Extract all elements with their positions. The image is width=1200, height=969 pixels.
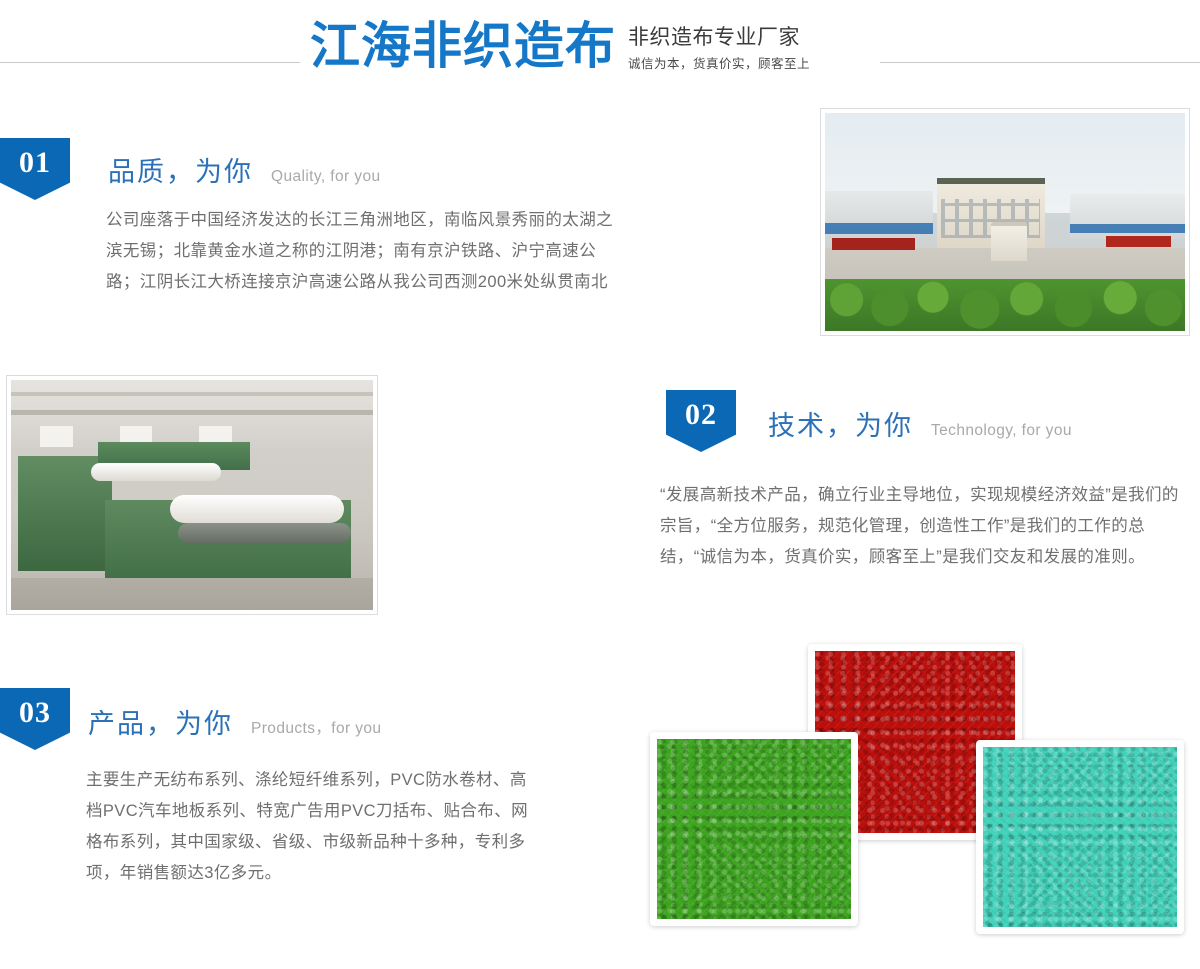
brand-taglines: 非织造布专业厂家 诚信为本，货真价实，顾客至上 xyxy=(628,18,810,74)
pvc-swatch-green-surface xyxy=(657,739,851,919)
fabric-roll-upper xyxy=(91,463,221,481)
company-logo-text: 江海非织造布 xyxy=(310,18,616,74)
section-heading-01: 品质，为你 Quality, for you xyxy=(108,150,381,189)
section-badge-03: 03 xyxy=(0,688,70,750)
header-divider-left xyxy=(0,62,300,63)
section-title-cn-02: 技术，为你 xyxy=(768,404,913,443)
campus-warehouse-right xyxy=(1070,194,1185,240)
pvc-swatch-turquoise xyxy=(976,740,1184,934)
page-header: 江海非织造布 非织造布专业厂家 诚信为本，货真价实，顾客至上 xyxy=(0,0,1200,100)
machine-floor xyxy=(11,578,373,610)
company-profile-page: 江海非织造布 非织造布专业厂家 诚信为本，货真价实，顾客至上 01 品质，为你 … xyxy=(0,0,1200,969)
machine-roof-beam-upper xyxy=(11,392,373,396)
section-body-02: “发展高新技术产品，确立行业主导地位，实现规模经济效益”是我们的宗旨，“全方位服… xyxy=(660,480,1188,573)
section-title-en-03: Products，for you xyxy=(251,716,381,738)
tagline-primary: 非织造布专业厂家 xyxy=(628,24,810,52)
section-badge-02: 02 xyxy=(666,390,736,452)
section-title-en-01: Quality, for you xyxy=(271,168,381,186)
brand-lockup: 江海非织造布 非织造布专业厂家 诚信为本，货真价实，顾客至上 xyxy=(310,18,810,74)
campus-tree-hedge xyxy=(825,279,1185,331)
pvc-swatch-turquoise-surface xyxy=(983,747,1177,927)
machine-image-content xyxy=(11,380,373,610)
section-title-en-02: Technology, for you xyxy=(931,422,1072,440)
machine-roof-beam-lower xyxy=(11,410,373,415)
nonwoven-machine-photo xyxy=(6,375,378,615)
campus-warehouse-left xyxy=(825,191,933,239)
fabric-roll-main xyxy=(170,495,344,523)
header-divider-right xyxy=(880,62,1200,63)
section-title-cn-03: 产品，为你 xyxy=(88,702,233,741)
section-heading-02: 技术，为你 Technology, for you xyxy=(768,404,1072,443)
campus-banner-right xyxy=(1106,236,1171,247)
factory-campus-photo xyxy=(820,108,1190,336)
pvc-swatch-green xyxy=(650,732,858,926)
section-badge-01: 01 xyxy=(0,138,70,200)
machine-window-1 xyxy=(40,426,73,447)
section-body-03: 主要生产无纺布系列、涤纶短纤维系列，PVC防水卷材、高档PVC汽车地板系列、特宽… xyxy=(86,765,538,889)
campus-guard-booth xyxy=(991,222,1027,261)
section-heading-03: 产品，为你 Products，for you xyxy=(88,702,381,741)
section-body-01: 公司座落于中国经济发达的长江三角洲地区，南临风景秀丽的太湖之滨无锡；北靠黄金水道… xyxy=(106,205,618,298)
campus-banner-left xyxy=(832,238,915,250)
campus-image-content xyxy=(825,113,1185,331)
tagline-secondary: 诚信为本，货真价实，顾客至上 xyxy=(628,54,810,74)
section-title-cn-01: 品质，为你 xyxy=(108,150,253,189)
machine-drum-roller xyxy=(178,523,352,544)
